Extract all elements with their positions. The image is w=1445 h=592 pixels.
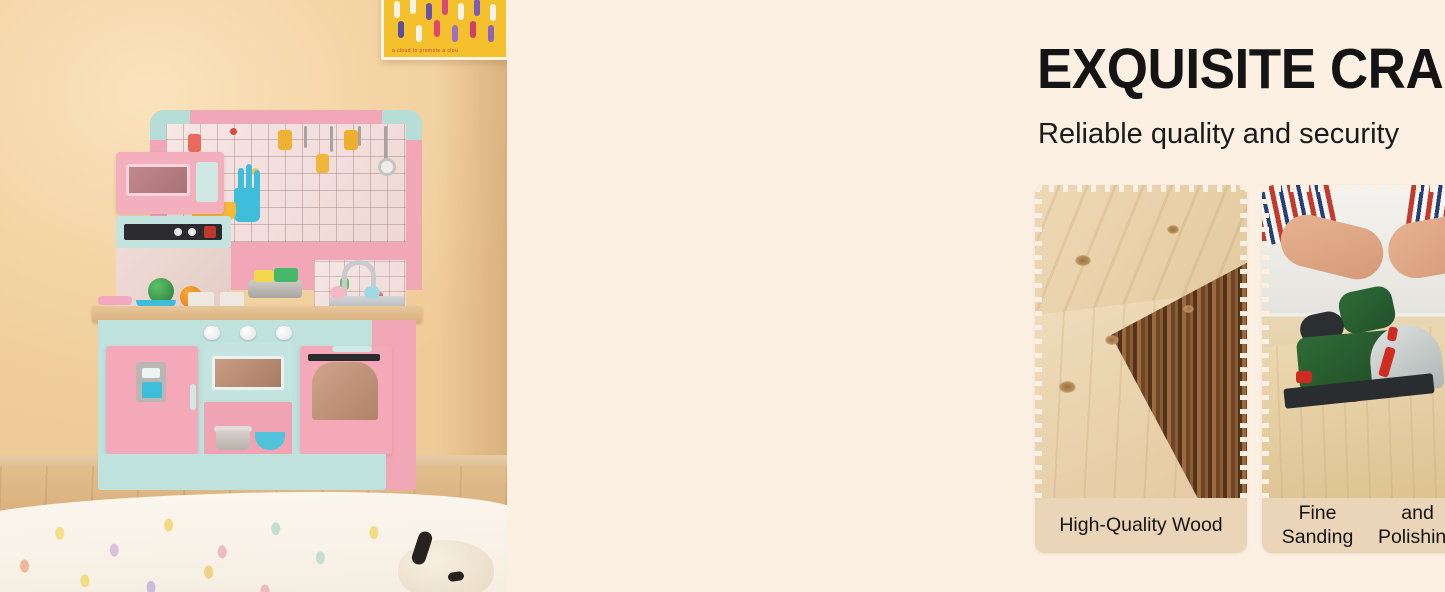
feature-photo-plywood (1035, 185, 1247, 498)
page-title: EXQUISITE CRAFTSMANSHIP (1037, 41, 1445, 98)
wall-corner-shadow (437, 0, 507, 470)
poster-caption: a cloud to promote a clou (392, 48, 458, 54)
feature-card-high-quality-wood[interactable]: High-Quality Wood (1035, 185, 1247, 553)
feature-caption: Fine Sanding and Polishing (1262, 498, 1445, 553)
wall-poster: a cloud to promote a clou (381, 0, 507, 60)
feature-caption: High-Quality Wood (1035, 498, 1247, 553)
feature-caption-line-2: and Polishing (1367, 502, 1445, 550)
content-panel: EXQUISITE CRAFTSMANSHIP Reliable quality… (507, 0, 1445, 592)
product-feature-banner: a cloud to promote a clou (0, 0, 1445, 592)
toy-kitchen (92, 110, 422, 480)
toy-microwave (116, 152, 224, 214)
feature-card-list: High-Quality Wood (1035, 185, 1445, 553)
utensil-holder (234, 188, 260, 222)
feature-card-fine-sanding-and-polishing[interactable]: Fine Sanding and Polishing (1262, 185, 1445, 553)
feature-caption-line-1: Fine Sanding (1268, 502, 1367, 550)
feature-photo-circular-saw (1262, 185, 1445, 498)
page-subtitle: Reliable quality and security (1038, 118, 1399, 151)
plush-toy (398, 540, 494, 592)
hero-product-photo: a cloud to promote a clou (0, 0, 507, 592)
